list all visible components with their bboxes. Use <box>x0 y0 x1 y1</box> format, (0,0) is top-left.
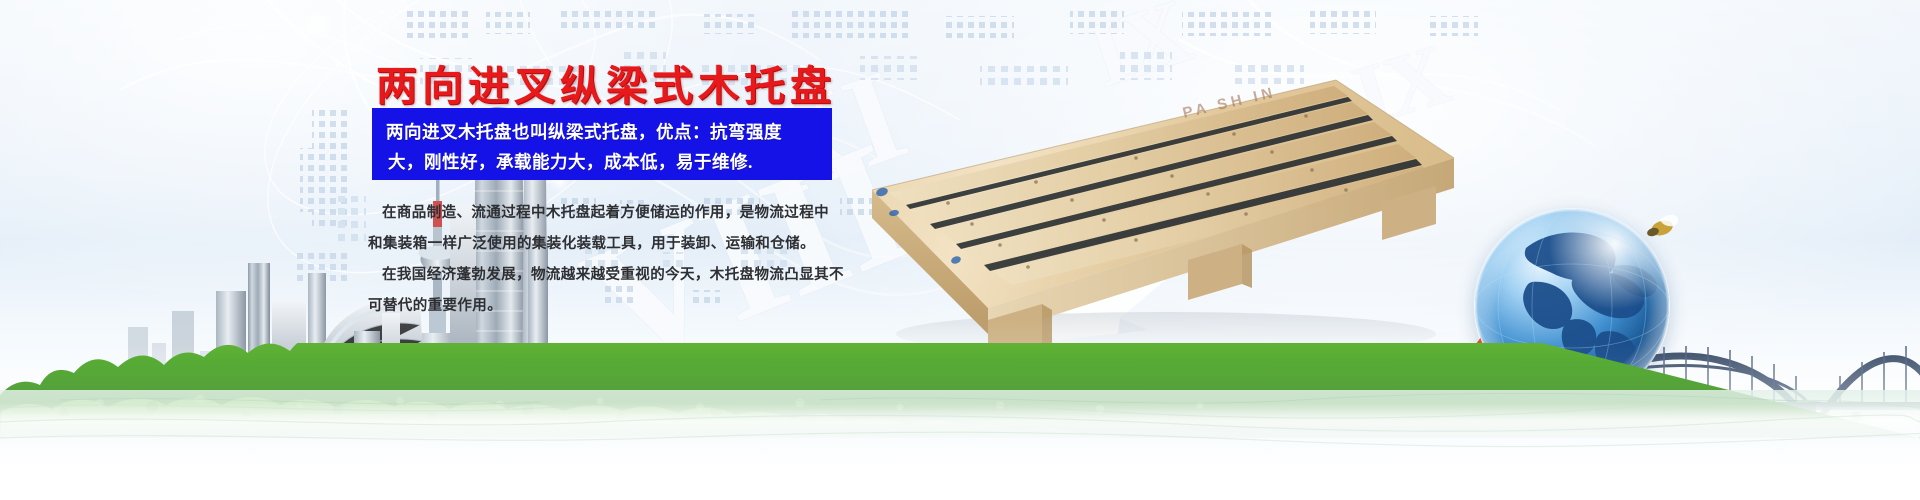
callout-line-2: 大，刚性好，承载能力大，成本低，易于维修. <box>386 147 818 177</box>
page-title: 两向进叉纵梁式木托盘 <box>376 52 836 112</box>
paragraph-line-3: 在我国经济蓬勃发展，物流越来越受重视的今天，木托盘物流凸显其不 <box>368 260 848 291</box>
highlight-callout-box: 两向进叉木托盘也叫纵梁式托盘，优点：抗弯强度 大，刚性好，承载能力大，成本低，易… <box>372 108 832 180</box>
paragraph-line-2: 和集装箱一样广泛使用的集装化装载工具，用于装卸、运输和仓储。 <box>368 229 848 260</box>
paragraph-line-1: 在商品制造、流通过程中木托盘起着方便储运的作用，是物流过程中 <box>368 198 848 229</box>
description-paragraph: 在商品制造、流通过程中木托盘起着方便储运的作用，是物流过程中 和集装箱一样广泛使… <box>368 198 848 322</box>
callout-line-1: 两向进叉木托盘也叫纵梁式托盘，优点：抗弯强度 <box>386 117 818 147</box>
paragraph-line-4: 可替代的重要作用。 <box>368 291 848 322</box>
water-ripples <box>0 390 1920 460</box>
satellite-accent-icon <box>1638 212 1682 250</box>
promo-banner: IX XI VIII XII IX <box>0 0 1920 500</box>
wooden-pallet-photo: PA SH IN <box>836 72 1456 357</box>
